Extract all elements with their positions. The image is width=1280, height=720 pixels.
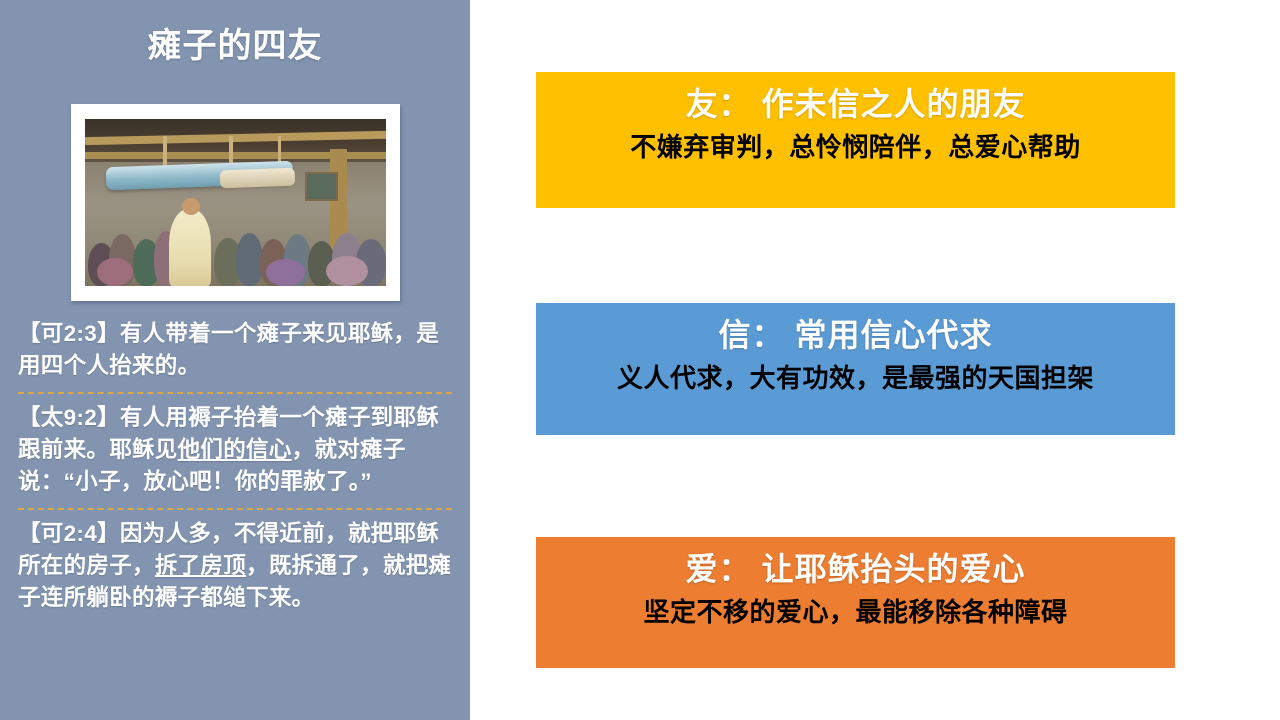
page-title: 瘫子的四友 [0,26,470,67]
key-point-heading: 信： 常用信心代求 [536,312,1175,358]
illustration-frame [71,104,400,301]
key-point-heading: 爱： 让耶稣抬头的爱心 [536,546,1175,592]
paralytic-lowered-through-roof-illustration [85,119,386,286]
key-point-heading: 友： 作未信之人的朋友 [536,81,1175,127]
verse-text-underlined: 他们的信心 [178,437,292,462]
key-point-card-love: 爱： 让耶稣抬头的爱心 坚定不移的爱心，最能移除各种障碍 [536,537,1175,668]
illustration-paralytic-figure [220,168,296,189]
key-point-subtext: 义人代求，大有功效，是最强的天国担架 [536,360,1175,396]
illustration-jesus-figure [169,209,211,286]
left-sidebar-panel: 瘫子的四友 [0,0,470,720]
illustration-crowd [85,203,386,287]
verse-divider [18,508,452,510]
verse-text-before: 【可2:3】有人带着一个瘫子来见耶稣，是用四个人抬来的。 [18,321,439,378]
key-points-panel: 友： 作未信之人的朋友 不嫌弃审判，总怜悯陪伴，总爱心帮助 信： 常用信心代求 … [470,0,1280,720]
presentation-slide: 瘫子的四友 [0,0,1280,720]
verse-text: 【可2:4】因为人多，不得近前，就把耶稣所在的房子，拆了房顶，既拆通了，就把瘫子… [18,516,452,620]
verse-divider [18,392,452,394]
illustration-window [305,172,338,200]
key-point-subtext: 坚定不移的爱心，最能移除各种障碍 [536,594,1175,630]
key-point-subtext: 不嫌弃审判，总怜悯陪伴，总爱心帮助 [536,129,1175,165]
verse-text: 【太9:2】有人用褥子抬着一个瘫子到耶稣跟前来。耶稣见他们的信心，就对瘫子说：“… [18,400,452,504]
verse-text-underlined: 拆了房顶 [155,553,246,578]
key-point-card-friend: 友： 作未信之人的朋友 不嫌弃审判，总怜悯陪伴，总爱心帮助 [536,72,1175,208]
key-point-card-faith: 信： 常用信心代求 义人代求，大有功效，是最强的天国担架 [536,303,1175,435]
verse-text: 【可2:3】有人带着一个瘫子来见耶稣，是用四个人抬来的。 [18,316,452,388]
scripture-verse-list: 【可2:3】有人带着一个瘫子来见耶稣，是用四个人抬来的。 【太9:2】有人用褥子… [18,316,452,620]
